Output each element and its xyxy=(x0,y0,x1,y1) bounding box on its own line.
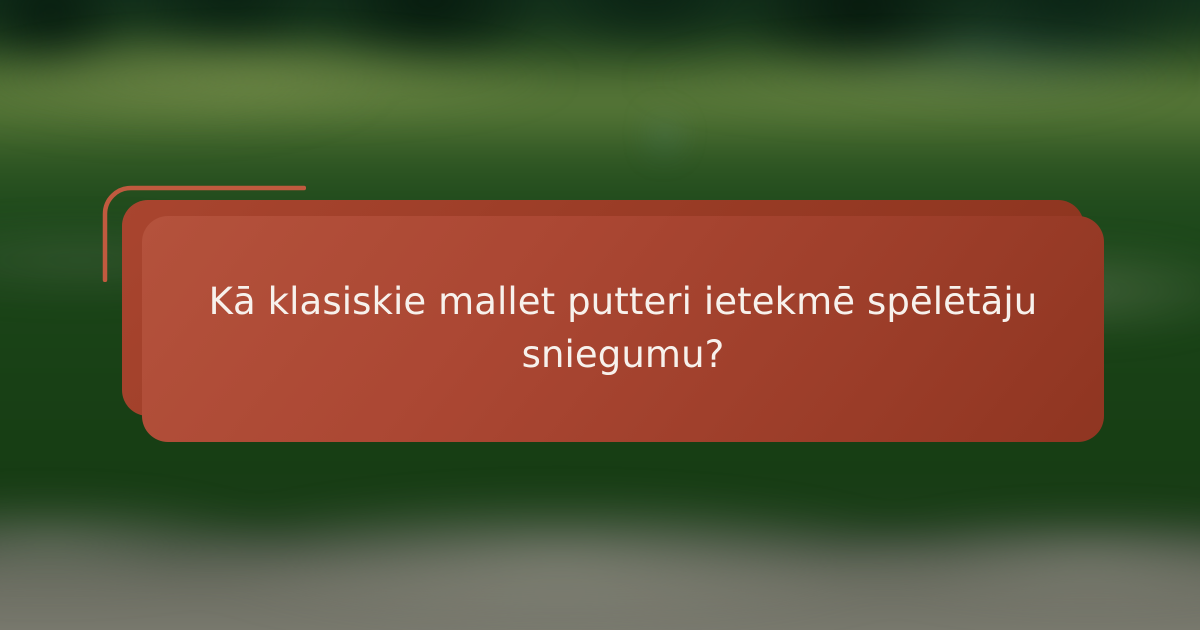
headline-card-stack: Kā klasiskie mallet putteri ietekmē spēl… xyxy=(0,0,1200,630)
social-card-poster: Kā klasiskie mallet putteri ietekmē spēl… xyxy=(0,0,1200,630)
headline-card: Kā klasiskie mallet putteri ietekmē spēl… xyxy=(142,216,1104,442)
page-title: Kā klasiskie mallet putteri ietekmē spēl… xyxy=(196,276,1050,381)
